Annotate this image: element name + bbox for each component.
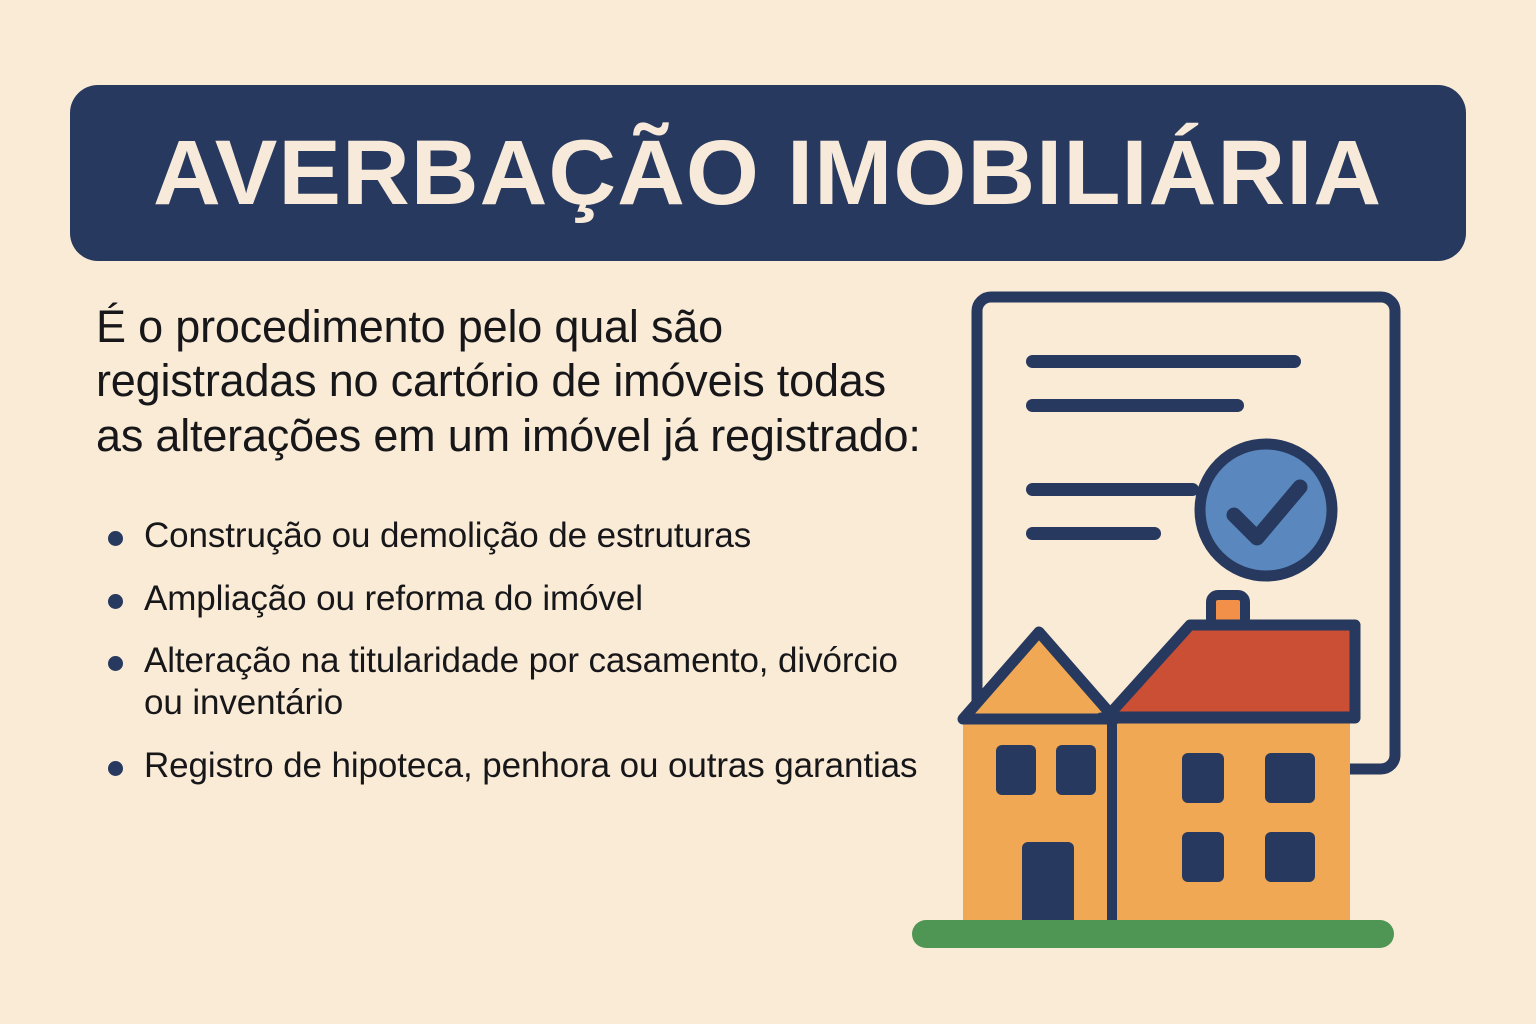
document-line bbox=[1026, 483, 1199, 496]
list-item: Construção ou demolição de estruturas bbox=[96, 515, 926, 557]
list-item-label: Alteração na titularidade por casamento,… bbox=[144, 641, 898, 722]
list-item-label: Registro de hipoteca, penhora ou outras … bbox=[144, 746, 917, 785]
document-line bbox=[1026, 399, 1244, 412]
ground-strip bbox=[912, 920, 1394, 948]
bullet-dot-icon bbox=[108, 531, 123, 546]
window bbox=[1265, 832, 1315, 882]
list-item-label: Ampliação ou reforma do imóvel bbox=[144, 579, 643, 618]
window bbox=[996, 745, 1036, 795]
document-line bbox=[1026, 355, 1301, 368]
document-line bbox=[1026, 527, 1161, 540]
window bbox=[1265, 753, 1315, 803]
seal-circle bbox=[1200, 444, 1332, 576]
list-item: Registro de hipoteca, penhora ou outras … bbox=[96, 745, 926, 787]
approved-check-seal bbox=[1200, 444, 1332, 576]
bullet-dot-icon bbox=[108, 594, 123, 609]
title-banner: AVERBAÇÃO IMOBILIÁRIA bbox=[70, 85, 1466, 261]
list-item: Ampliação ou reforma do imóvel bbox=[96, 578, 926, 620]
property-illustration bbox=[900, 275, 1436, 955]
bullet-list: Construção ou demolição de estruturas Am… bbox=[96, 515, 926, 787]
list-item-label: Construção ou demolição de estruturas bbox=[144, 516, 751, 555]
intro-paragraph: É o procedimento pelo qual são registrad… bbox=[96, 300, 926, 463]
bullet-dot-icon bbox=[108, 656, 123, 671]
infographic-canvas: AVERBAÇÃO IMOBILIÁRIA É o procedimento p… bbox=[0, 0, 1536, 1024]
window bbox=[1056, 745, 1096, 795]
text-column: É o procedimento pelo qual são registrad… bbox=[96, 300, 926, 807]
bullet-dot-icon bbox=[108, 761, 123, 776]
door bbox=[1022, 842, 1074, 925]
window bbox=[1182, 832, 1224, 882]
list-item: Alteração na titularidade por casamento,… bbox=[96, 640, 926, 725]
main-wall bbox=[1107, 712, 1350, 925]
window bbox=[1182, 753, 1224, 803]
page-title: AVERBAÇÃO IMOBILIÁRIA bbox=[153, 127, 1382, 219]
